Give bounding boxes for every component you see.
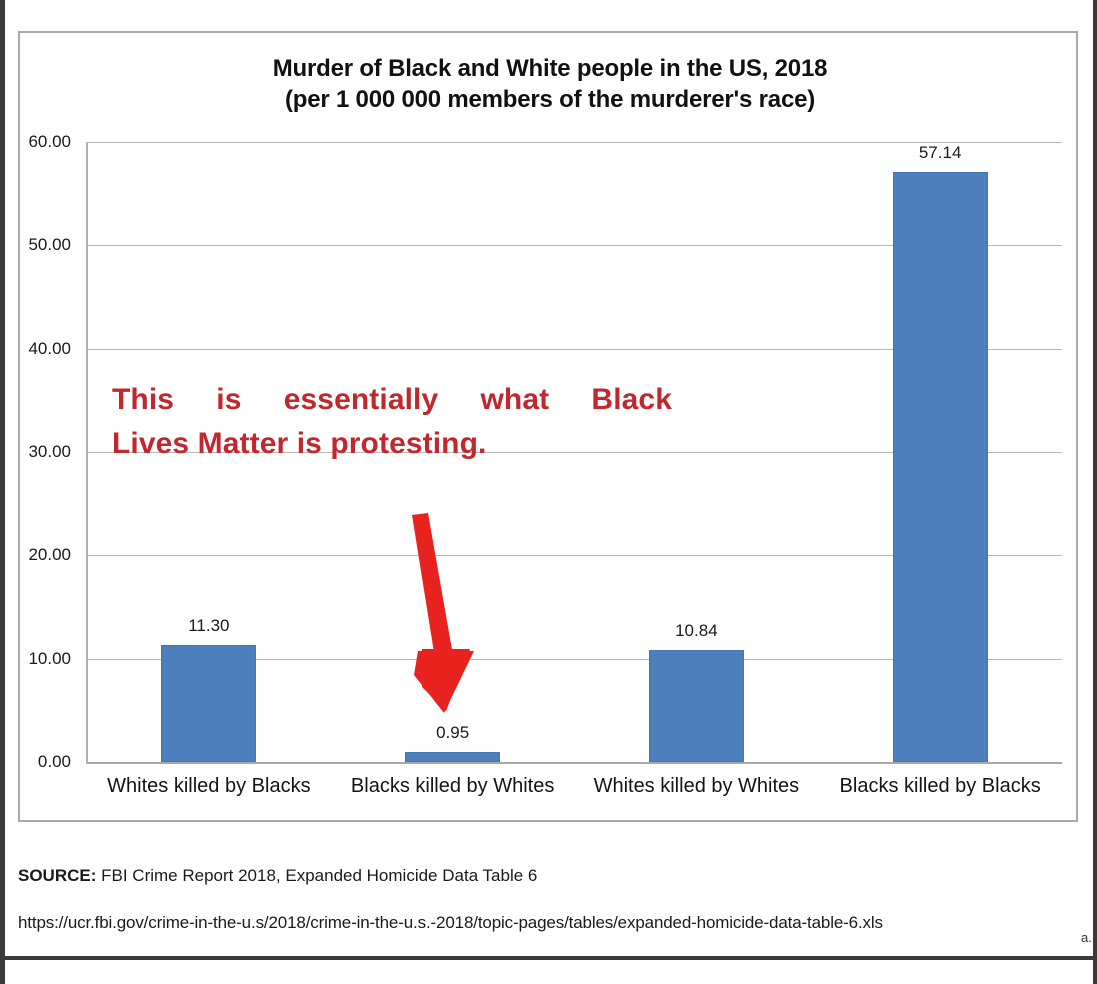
callout-line-2: Lives Matter is protesting. [112, 422, 672, 466]
x-axis-category-label: Whites killed by Whites [594, 775, 800, 798]
bar-value-label: 0.95 [436, 723, 469, 743]
y-axis-tick-label: 20.00 [0, 545, 71, 565]
corner-mark: a. [1081, 930, 1092, 945]
red-down-arrow-icon [392, 511, 502, 726]
bar [649, 650, 744, 762]
bar-value-label: 11.30 [188, 616, 229, 636]
y-axis-tick-label: 10.00 [0, 649, 71, 669]
source-text: FBI Crime Report 2018, Expanded Homicide… [96, 866, 537, 885]
chart-title: Murder of Black and White people in the … [20, 53, 1080, 115]
source-url: https://ucr.fbi.gov/crime-in-the-u.s/201… [18, 913, 883, 933]
chart-title-line-1: Murder of Black and White people in the … [20, 53, 1080, 84]
y-axis-tick-label: 50.00 [0, 235, 71, 255]
gridline [87, 762, 1062, 764]
chart-container: Murder of Black and White people in the … [18, 31, 1078, 822]
y-axis-tick-label: 30.00 [0, 442, 71, 462]
bar [161, 645, 256, 762]
y-axis-tick-label: 40.00 [0, 339, 71, 359]
callout-line-1: This is essentially what Black [112, 378, 672, 422]
x-axis-category-label: Blacks killed by Blacks [840, 775, 1041, 798]
bar-value-label: 57.14 [919, 143, 962, 163]
x-axis-category-label: Blacks killed by Whites [351, 775, 554, 798]
callout-annotation-text: This is essentially what Black Lives Mat… [112, 378, 672, 465]
page-bottom-rule [5, 956, 1093, 960]
gridline [87, 142, 1062, 143]
y-axis-tick-label: 60.00 [0, 132, 71, 152]
x-axis-category-label: Whites killed by Blacks [107, 775, 310, 798]
y-axis-tick-label: 0.00 [0, 752, 71, 772]
chart-title-line-2: (per 1 000 000 members of the murderer's… [20, 84, 1080, 115]
source-label: SOURCE: [18, 866, 96, 885]
bar [893, 172, 988, 762]
bar-value-label: 10.84 [675, 621, 718, 641]
bar [405, 752, 500, 762]
source-credit: SOURCE: FBI Crime Report 2018, Expanded … [18, 866, 537, 886]
